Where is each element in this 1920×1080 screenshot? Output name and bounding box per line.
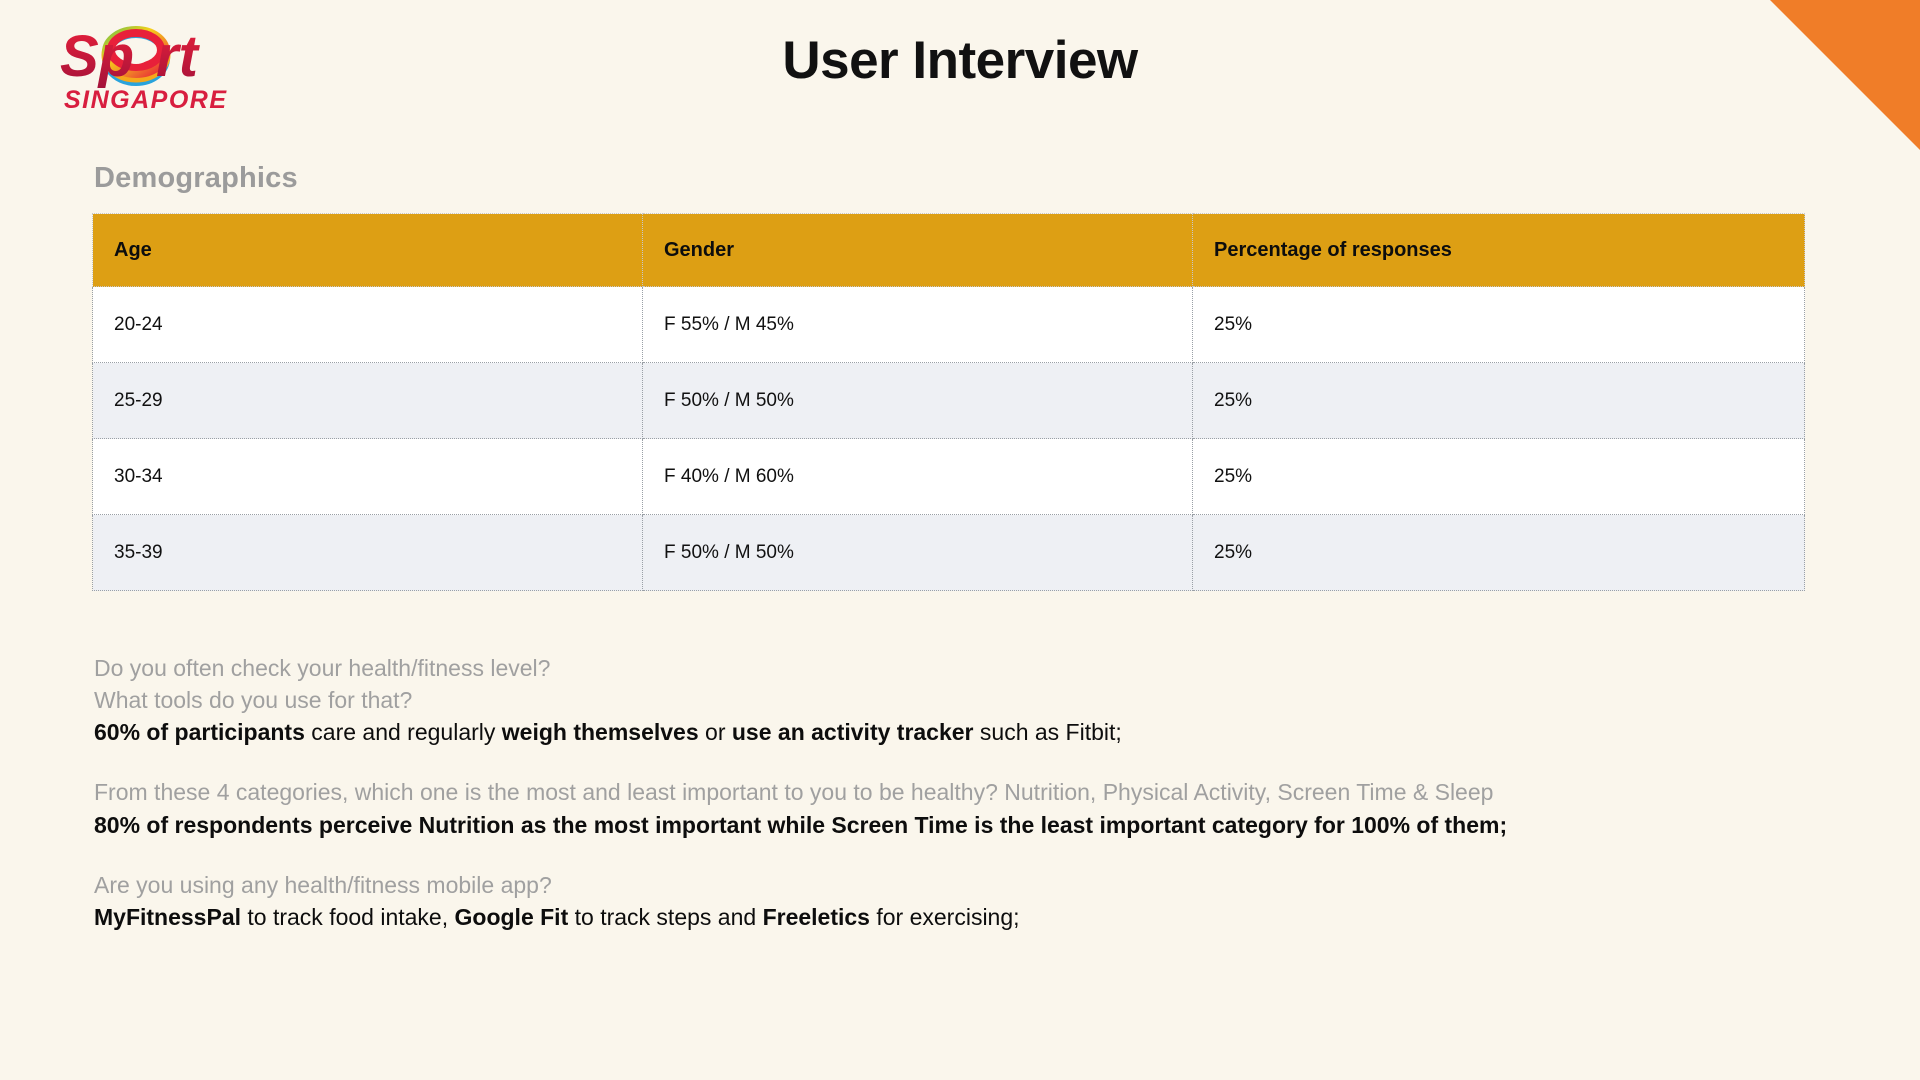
qa-answer-emphasis: use an activity tracker [732,719,974,745]
qa-answer-text: to track food intake, [241,904,455,930]
corner-accent-wedge [1770,0,1920,150]
qa-question: Do you often check your health/fitness l… [94,653,1828,685]
qa-answer-emphasis: Google Fit [455,904,569,930]
qa-question: Are you using any health/fitness mobile … [94,870,1828,902]
qa-question: What tools do you use for that? [94,685,1828,717]
qa-answer-emphasis: 60% of participants [94,719,305,745]
page-title: User Interview [0,30,1920,91]
qa-question: From these 4 categories, which one is th… [94,777,1828,809]
column-header-percentage: Percentage of responses [1193,214,1805,287]
qa-answer-emphasis: Freeletics [763,904,870,930]
cell-age: 25-29 [93,363,643,439]
qa-answer: 60% of participants care and regularly w… [94,717,1828,749]
cell-age: 35-39 [93,515,643,591]
cell-age: 30-34 [93,439,643,515]
table-header-row: Age Gender Percentage of responses [93,214,1805,287]
table-row: 20-24F 55% / M 45%25% [93,287,1805,363]
cell-gender: F 40% / M 60% [643,439,1193,515]
slide-content: Demographics Age Gender Percentage of re… [0,162,1920,934]
qa-block: Do you often check your health/fitness l… [94,653,1828,934]
table-row: 30-34F 40% / M 60%25% [93,439,1805,515]
table-body: 20-24F 55% / M 45%25%25-29F 50% / M 50%2… [93,287,1805,591]
qa-answer: MyFitnessPal to track food intake, Googl… [94,902,1828,934]
qa-answer-text: or [699,719,732,745]
cell-gender: F 50% / M 50% [643,515,1193,591]
column-header-age: Age [93,214,643,287]
demographics-table: Age Gender Percentage of responses 20-24… [92,213,1805,591]
column-header-gender: Gender [643,214,1193,287]
slide-header: Sp rt SINGAPORE User Interview [0,0,1920,132]
qa-answer: 80% of respondents perceive Nutrition as… [94,810,1828,842]
cell-percentage: 25% [1193,287,1805,363]
qa-answer-emphasis: weigh themselves [502,719,699,745]
qa-answer-emphasis: 80% of respondents perceive Nutrition as… [94,812,1507,838]
qa-group: Are you using any health/fitness mobile … [94,870,1828,934]
qa-answer-emphasis: MyFitnessPal [94,904,241,930]
table-row: 35-39F 50% / M 50%25% [93,515,1805,591]
cell-percentage: 25% [1193,439,1805,515]
cell-gender: F 55% / M 45% [643,287,1193,363]
qa-answer-text: to track steps and [568,904,762,930]
cell-gender: F 50% / M 50% [643,363,1193,439]
qa-group: From these 4 categories, which one is th… [94,777,1828,841]
table-row: 25-29F 50% / M 50%25% [93,363,1805,439]
qa-answer-text: for exercising; [870,904,1020,930]
qa-group: Do you often check your health/fitness l… [94,653,1828,749]
qa-answer-text: care and regularly [305,719,502,745]
cell-age: 20-24 [93,287,643,363]
cell-percentage: 25% [1193,363,1805,439]
cell-percentage: 25% [1193,515,1805,591]
qa-answer-text: such as Fitbit; [974,719,1122,745]
section-heading: Demographics [94,162,1828,195]
